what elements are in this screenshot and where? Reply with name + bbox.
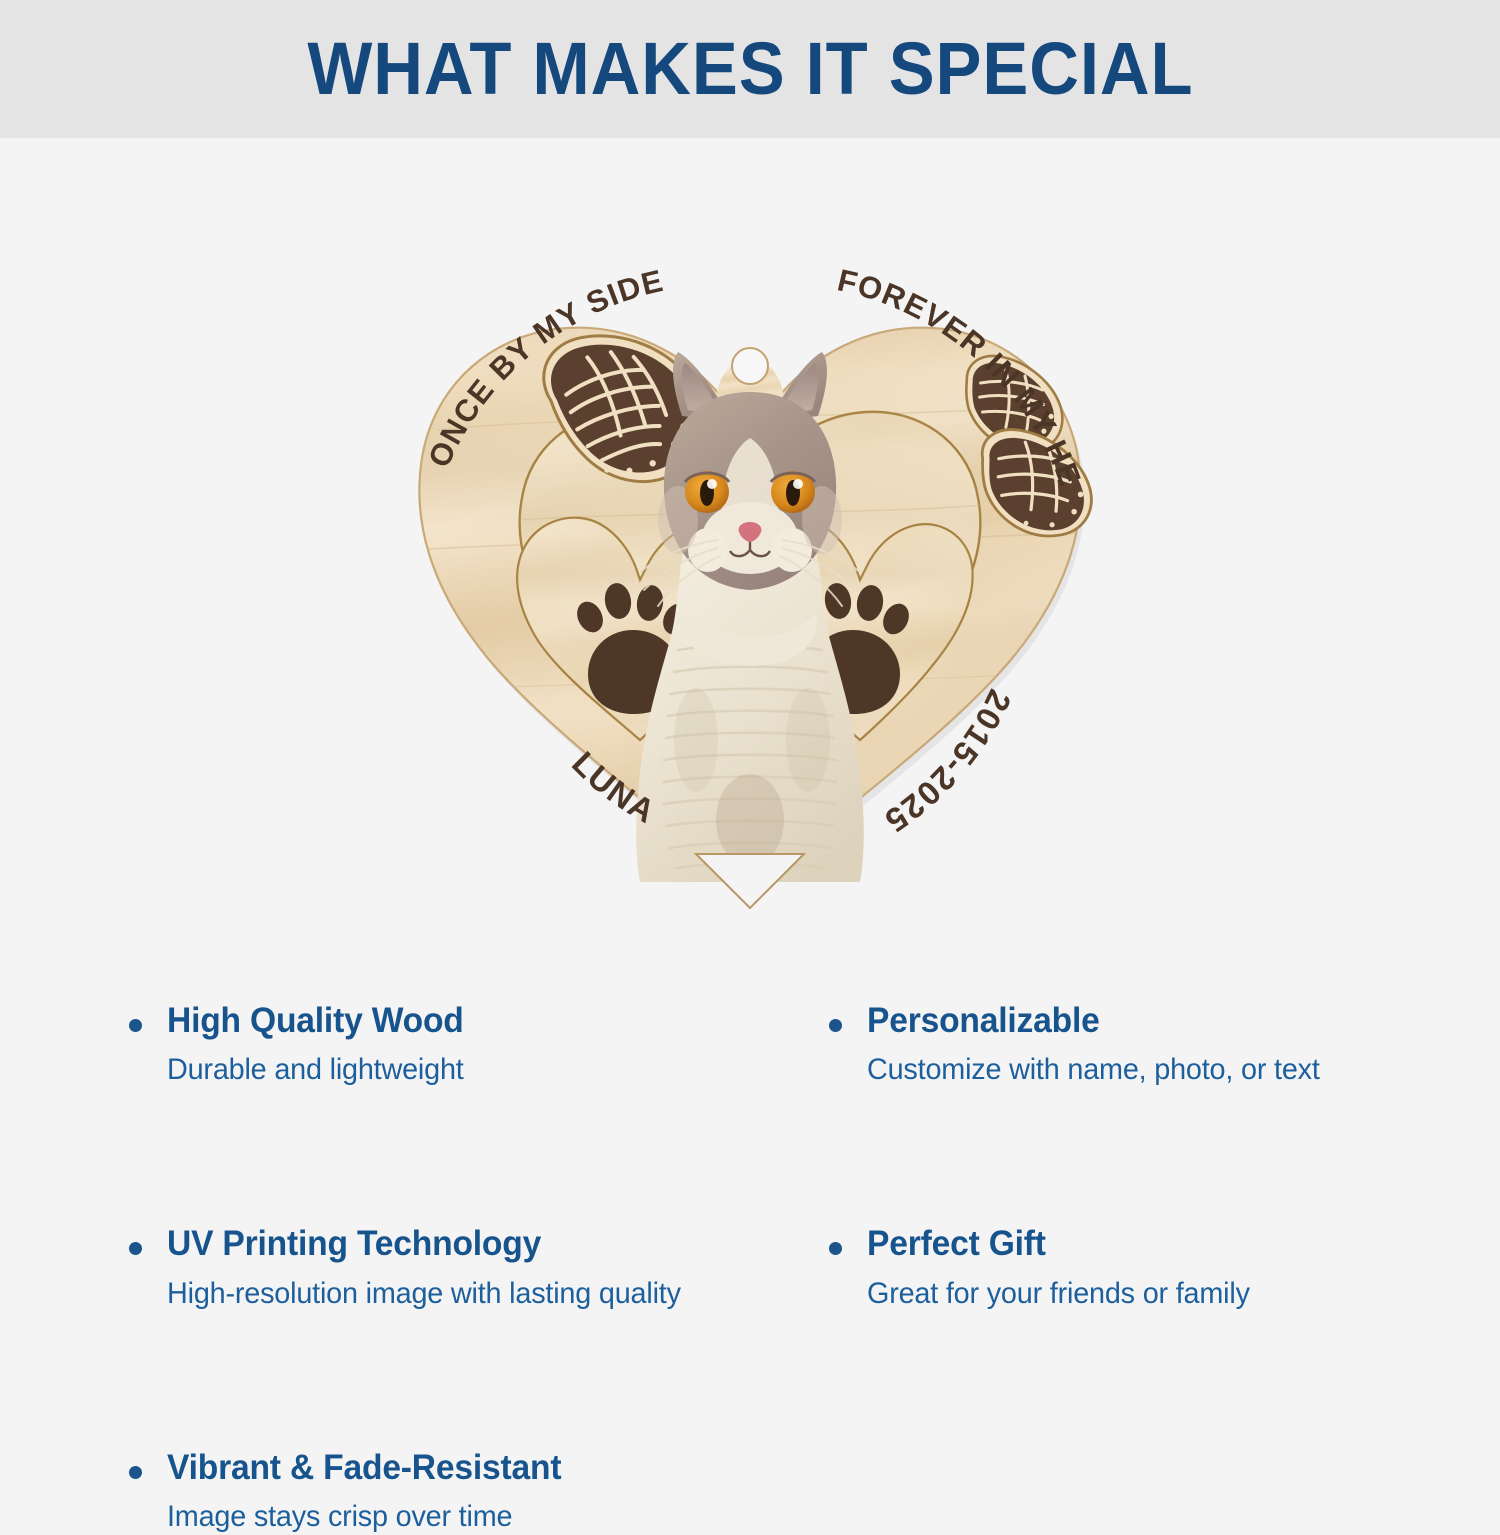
feature-item: Perfect Gift Great for your friends or f… [820,1223,1460,1311]
feature-subtitle: Image stays crisp over time [167,1499,794,1535]
page-title: WHAT MAKES IT SPECIAL [307,32,1193,106]
feature-list: High Quality Wood Durable and lightweigh… [0,1000,1500,1440]
feature-subtitle: High-resolution image with lasting quali… [167,1276,794,1312]
feature-title: UV Printing Technology [167,1223,794,1264]
bullet-icon [129,1466,142,1479]
feature-title: High Quality Wood [167,1000,794,1041]
bullet-icon [829,1019,842,1032]
product-image-area: ONCE BY MY SIDE FOREVER IN MY HEART LUNA… [0,138,1500,1000]
ornament-illustration: ONCE BY MY SIDE FOREVER IN MY HEART LUNA… [378,220,1122,920]
cat-eye-right [771,471,815,513]
feature-item: Personalizable Customize with name, phot… [820,1000,1460,1088]
bullet-icon [129,1242,142,1255]
bullet-icon [129,1019,142,1032]
cat-eye-left [685,471,729,513]
feature-subtitle: Great for your friends or family [867,1276,1436,1312]
feature-title: Perfect Gift [867,1223,1436,1264]
hanger-hole-icon [716,348,784,398]
bullet-icon [829,1242,842,1255]
page-header: WHAT MAKES IT SPECIAL [0,0,1500,138]
spacer [120,1088,820,1223]
feature-item: High Quality Wood Durable and lightweigh… [120,1000,820,1088]
feature-column-right: Personalizable Customize with name, phot… [820,1000,1460,1312]
feature-subtitle: Durable and lightweight [167,1052,794,1088]
spacer [120,1312,820,1447]
spacer [820,1088,1460,1223]
feature-item: Vibrant & Fade-Resistant Image stays cri… [120,1447,820,1535]
feature-title: Vibrant & Fade-Resistant [167,1447,794,1488]
feature-subtitle: Customize with name, photo, or text [867,1052,1436,1088]
feature-column-left: High Quality Wood Durable and lightweigh… [120,1000,820,1535]
feature-item: UV Printing Technology High-resolution i… [120,1223,820,1311]
feature-title: Personalizable [867,1000,1436,1041]
